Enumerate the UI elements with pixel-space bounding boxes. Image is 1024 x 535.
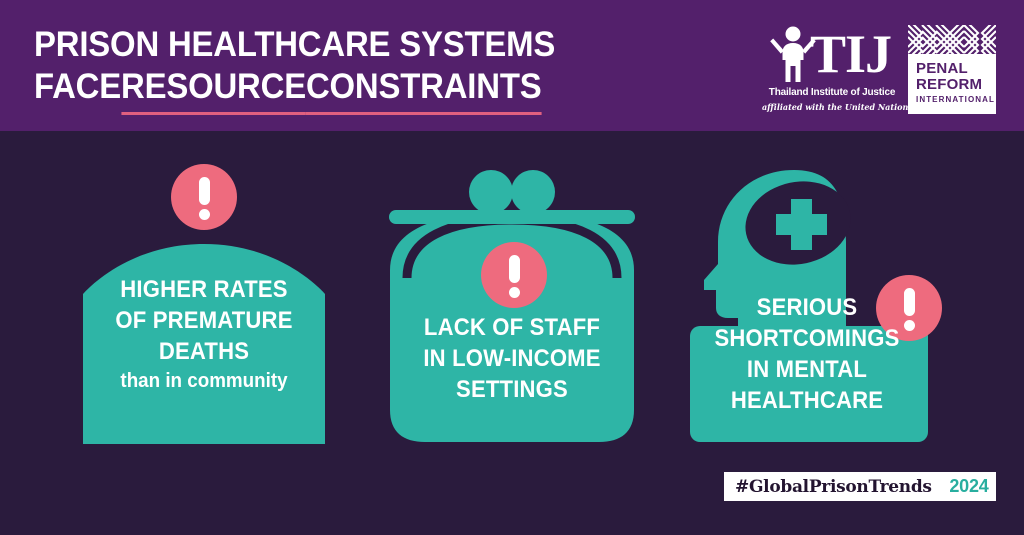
title-line-1: PRISON HEALTHCARE SYSTEMS: [34, 24, 636, 66]
exclamation-badge-icon: [481, 242, 547, 308]
hashtag-text: #GlobalPrisonTrends: [735, 477, 932, 497]
title-line-1-text: PRISON HEALTHCARE SYSTEMS: [34, 24, 555, 66]
pri-line-1: PENAL: [916, 61, 996, 77]
card1-headline-3: DEATHS: [81, 336, 328, 367]
card2-headline-2: IN LOW-INCOME: [393, 343, 630, 374]
exclamation-dot: [509, 287, 520, 298]
chevron-pattern-icon: [908, 25, 996, 54]
pri-logo: PENAL REFORM INTERNATIONAL: [908, 25, 996, 114]
stat-card-lack-of-staff: LACK OF STAFF IN LOW-INCOME SETTINGS: [383, 170, 641, 444]
card2-headline-3: SETTINGS: [393, 374, 630, 405]
exclamation-bar: [199, 177, 210, 205]
stat-card-mental-healthcare: SERIOUS SHORTCOMINGS IN MENTAL HEALTHCAR…: [688, 168, 956, 444]
title-word-constraints: CONSTRAINTS: [306, 66, 542, 108]
header-banner: PRISON HEALTHCARE SYSTEMS FACE RESOURCE …: [0, 0, 1024, 131]
stat-card-2-text: LACK OF STAFF IN LOW-INCOME SETTINGS: [383, 312, 641, 405]
year-text: 2024: [949, 476, 988, 497]
card3-headline-1: SERIOUS: [698, 292, 917, 323]
tij-logo-mark: TIJ: [762, 26, 902, 83]
card1-headline-1: HIGHER RATES: [81, 274, 328, 305]
title-line-2: FACE RESOURCE CONSTRAINTS: [34, 66, 636, 108]
card1-headline-2: OF PREMATURE: [81, 305, 328, 336]
pri-line-2: REFORM: [916, 77, 996, 93]
tij-logo: TIJ Thailand Institute of Justice affili…: [762, 26, 902, 114]
tij-letters: TIJ: [810, 27, 891, 81]
card3-headline-4: HEALTHCARE: [698, 385, 917, 416]
page-title: PRISON HEALTHCARE SYSTEMS FACE RESOURCE …: [34, 24, 674, 108]
card2-headline-1: LACK OF STAFF: [393, 312, 630, 343]
exclamation-bar: [509, 255, 520, 283]
stat-card-1-text: HIGHER RATES OF PREMATURE DEATHS than in…: [70, 274, 338, 395]
pri-line-3: INTERNATIONAL: [916, 95, 996, 104]
exclamation-badge-icon: [171, 164, 237, 230]
tij-affiliation: affiliated with the United Nations: [762, 102, 902, 112]
exclamation-dot: [199, 209, 210, 220]
card3-headline-3: IN MENTAL: [698, 354, 917, 385]
title-word-face: FACE: [34, 66, 121, 108]
year-label: 2024: [942, 472, 996, 501]
card3-headline-2: SHORTCOMINGS: [698, 323, 917, 354]
title-word-resource: RESOURCE: [121, 66, 306, 108]
pri-wordmark: PENAL REFORM INTERNATIONAL: [908, 54, 996, 114]
stat-card-3-text: SERIOUS SHORTCOMINGS IN MENTAL HEALTHCAR…: [688, 292, 926, 416]
hashtag-label: #GlobalPrisonTrends: [724, 472, 943, 501]
tij-subtitle: Thailand Institute of Justice: [762, 87, 902, 98]
card1-subline: than in community: [78, 367, 330, 395]
stat-card-premature-deaths: HIGHER RATES OF PREMATURE DEATHS than in…: [70, 222, 338, 444]
